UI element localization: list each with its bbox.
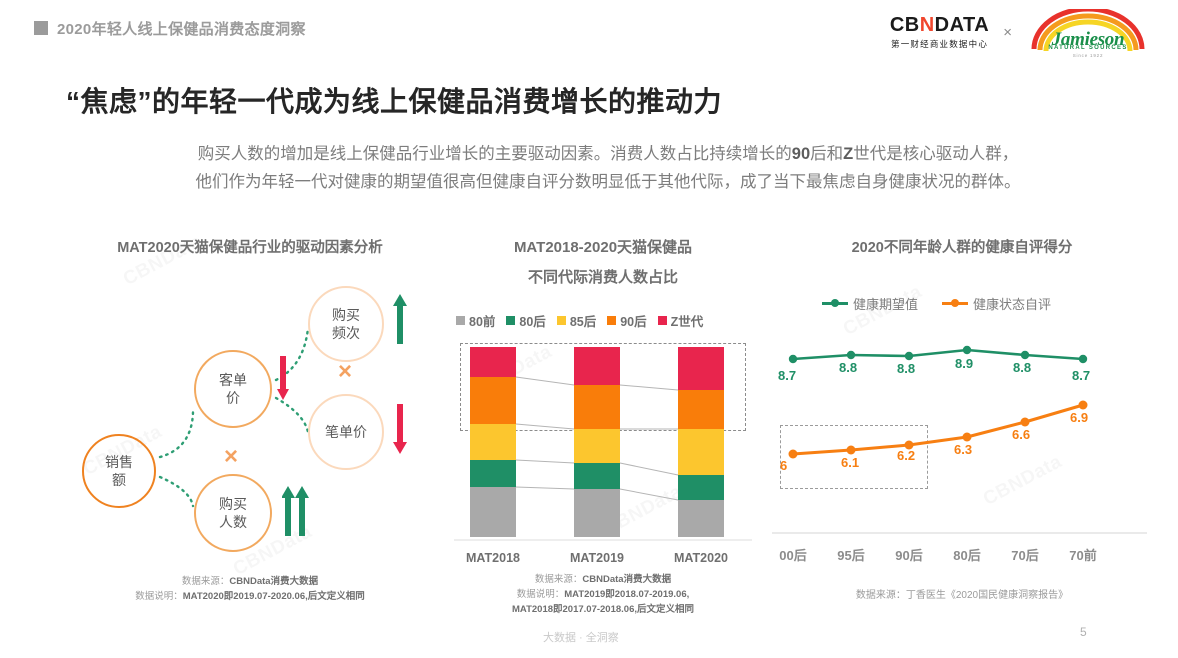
xlabel-mat2019: MAT2019: [557, 551, 637, 565]
mid-note-source: 数据来源：CBNData消费大数据: [448, 572, 758, 587]
right-note-source: 数据来源：丁香医生《2020国民健康洞察报告》: [762, 588, 1162, 603]
cbndata-subtitle: 第一财经商业数据中心: [890, 38, 989, 50]
lead-emph-z: Z: [843, 145, 853, 163]
seg-80qian-2020: [678, 500, 724, 537]
left-panel-title: MAT2020天猫保健品行业的驱动因素分析: [60, 236, 440, 257]
page-number: 5: [1080, 625, 1087, 639]
cbndata-wordmark: CBNDATA: [890, 15, 989, 35]
node-purchase-frequency: 购买频次: [308, 286, 384, 362]
seg-85hou-2018: [470, 424, 516, 460]
trend-down-arrow-unitprice-icon: [392, 402, 408, 454]
page-lead-paragraph: 购买人数的增加是线上保健品行业增长的主要驱动因素。消费人数占比持续增长的90后和…: [78, 140, 1138, 196]
value-selfrating-70hou: 6.6: [1012, 427, 1030, 442]
value-expectation-00hou: 8.7: [778, 368, 796, 383]
xlabel-90hou: 90后: [879, 545, 939, 564]
left-panel-footnote: 数据来源：CBNData消费大数据 数据说明：MAT2020即2019.07-2…: [60, 574, 440, 604]
value-selfrating-00hou: 6: [780, 458, 787, 473]
legend-line-health-selfrating: [942, 302, 968, 305]
value-expectation-90hou: 8.8: [897, 361, 915, 376]
mid-note-desc2: MAT2018即2017.07-2018.06,后文定义相同: [448, 602, 758, 617]
trend-up-double-arrow-buyers-icon: [282, 484, 312, 536]
header-title: 2020年轻人线上保健品消费态度洞察: [57, 18, 306, 39]
seg-80hou-2019: [574, 463, 620, 489]
seg-90hou-2018: [470, 377, 516, 424]
value-selfrating-70qian: 6.9: [1070, 410, 1088, 425]
node-aov-label: 客单价: [219, 371, 247, 407]
node-unit-price: 笔单价: [308, 394, 384, 470]
seg-80hou-2018: [470, 460, 516, 487]
legend-swatch-zshidai: [658, 316, 667, 325]
value-expectation-95hou: 8.8: [839, 360, 857, 375]
node-sales-label: 销售额: [105, 453, 133, 489]
legend-swatch-80qian: [456, 316, 465, 325]
page-header: 2020年轻人线上保健品消费态度洞察 CBNDATA 第一财经商业数据中心 × …: [0, 0, 1178, 62]
legend-item-90hou: 90后: [607, 311, 646, 330]
seg-zshidai-2019: [574, 347, 620, 385]
legend-dot-health-expectation: [831, 299, 839, 307]
node-average-order-value: 客单价: [194, 350, 272, 428]
xlabel-70qian: 70前: [1053, 545, 1113, 564]
legend-item-zshidai: Z世代: [658, 311, 704, 330]
xlabel-mat2020: MAT2020: [661, 551, 741, 565]
header-square-icon: [34, 21, 48, 35]
operator-multiply-left: ×: [224, 443, 238, 471]
node-buyers-label: 购买人数: [219, 495, 247, 531]
page-headline: “焦虑”的年轻一代成为线上保健品消费增长的推动力: [66, 80, 722, 120]
left-note-source: 数据来源：CBNData消费大数据: [60, 574, 440, 589]
driver-factor-diagram: 销售额 客单价 购买人数 购买频次 笔单价 × ×: [60, 262, 440, 562]
seg-80qian-2019: [574, 489, 620, 537]
health-score-line-chart: 8.7 8.8 8.8 8.9 8.8 8.7 6 6.1 6.2 6.3 6.…: [762, 330, 1162, 570]
stacked-bar-chart: MAT2018 MAT2019 MAT2020: [448, 340, 758, 550]
collab-x-icon: ×: [1003, 24, 1012, 41]
seg-80hou-2020: [678, 475, 724, 500]
legend-item-health-expectation: 健康期望值: [822, 294, 918, 313]
seg-90hou-2019: [574, 385, 620, 429]
value-selfrating-95hou: 6.1: [841, 455, 859, 470]
footer-brand: 大数据 · 全洞察: [543, 629, 619, 645]
cbndata-n-glyph: N: [920, 14, 935, 36]
seg-zshidai-2020: [678, 347, 724, 390]
mid-chart-legend: 80前 80后 85后 90后 Z世代: [456, 311, 703, 330]
seg-85hou-2019: [574, 429, 620, 463]
lead-emph-90: 90: [792, 145, 810, 163]
left-note-desc: 数据说明：MAT2020即2019.07-2020.06,后文定义相同: [60, 589, 440, 604]
value-expectation-70qian: 8.7: [1072, 368, 1090, 383]
value-expectation-80hou: 8.9: [955, 356, 973, 371]
xlabel-70hou: 70后: [995, 545, 1055, 564]
legend-line-health-expectation: [822, 302, 848, 305]
logo-group: CBNDATA 第一财经商业数据中心 × Jamieson NATURAL SO…: [890, 8, 1150, 56]
legend-swatch-80hou: [506, 316, 515, 325]
node-buyer-count: 购买人数: [194, 474, 272, 552]
mid-note-desc1: 数据说明：MAT2019即2018.07-2019.06,: [448, 587, 758, 602]
xlabel-mat2018: MAT2018: [453, 551, 533, 565]
legend-item-85hou: 85后: [557, 311, 596, 330]
seg-zshidai-2018: [470, 347, 516, 377]
lead-text-4: 他们作为年轻一代对健康的期望值很高但健康自评分数明显低于其他代际，成了当下最焦虑…: [196, 173, 1021, 191]
mid-panel-footnote: 数据来源：CBNData消费大数据 数据说明：MAT2019即2018.07-2…: [448, 572, 758, 617]
jamieson-since: Since 1922: [1026, 53, 1150, 58]
trend-up-arrow-frequency-icon: [392, 294, 408, 346]
lead-text-1: 购买人数的增加是线上保健品行业增长的主要驱动因素。消费人数占比持续增长的: [198, 145, 792, 163]
node-freq-label: 购买频次: [332, 306, 360, 342]
node-sales: 销售额: [82, 434, 156, 508]
lead-text-2: 后和: [810, 145, 843, 163]
cbndata-logo: CBNDATA 第一财经商业数据中心: [890, 15, 989, 50]
mid-panel-title-line2: 不同代际消费人数占比: [448, 266, 758, 287]
operator-multiply-right: ×: [338, 358, 352, 386]
legend-item-80qian: 80前: [456, 311, 495, 330]
right-chart-legend: 健康期望值 健康状态自评: [822, 294, 1051, 313]
seg-80qian-2018: [470, 487, 516, 537]
legend-swatch-90hou: [607, 316, 616, 325]
value-expectation-70hou: 8.8: [1013, 360, 1031, 375]
right-panel-footnote: 数据来源：丁香医生《2020国民健康洞察报告》: [762, 588, 1162, 603]
legend-swatch-85hou: [557, 316, 566, 325]
xlabel-95hou: 95后: [821, 545, 881, 564]
value-selfrating-90hou: 6.2: [897, 448, 915, 463]
legend-item-80hou: 80后: [506, 311, 545, 330]
trend-down-arrow-aov-icon: [276, 354, 290, 400]
seg-85hou-2020: [678, 429, 724, 475]
value-selfrating-80hou: 6.3: [954, 442, 972, 457]
legend-dot-health-selfrating: [951, 299, 959, 307]
seg-90hou-2020: [678, 390, 724, 429]
xlabel-00hou: 00后: [763, 545, 823, 564]
right-panel-title: 2020不同年龄人群的健康自评得分: [762, 236, 1162, 257]
lead-text-3: 世代是核心驱动人群，: [853, 145, 1018, 163]
mid-panel-title-line1: MAT2018-2020天猫保健品: [448, 236, 758, 257]
legend-item-health-selfrating: 健康状态自评: [942, 294, 1051, 313]
node-unit-label: 笔单价: [325, 423, 367, 441]
jamieson-tagline: NATURAL SOURCES: [1026, 45, 1150, 51]
jamieson-logo: Jamieson NATURAL SOURCES Since 1922: [1026, 9, 1150, 55]
xlabel-80hou: 80后: [937, 545, 997, 564]
